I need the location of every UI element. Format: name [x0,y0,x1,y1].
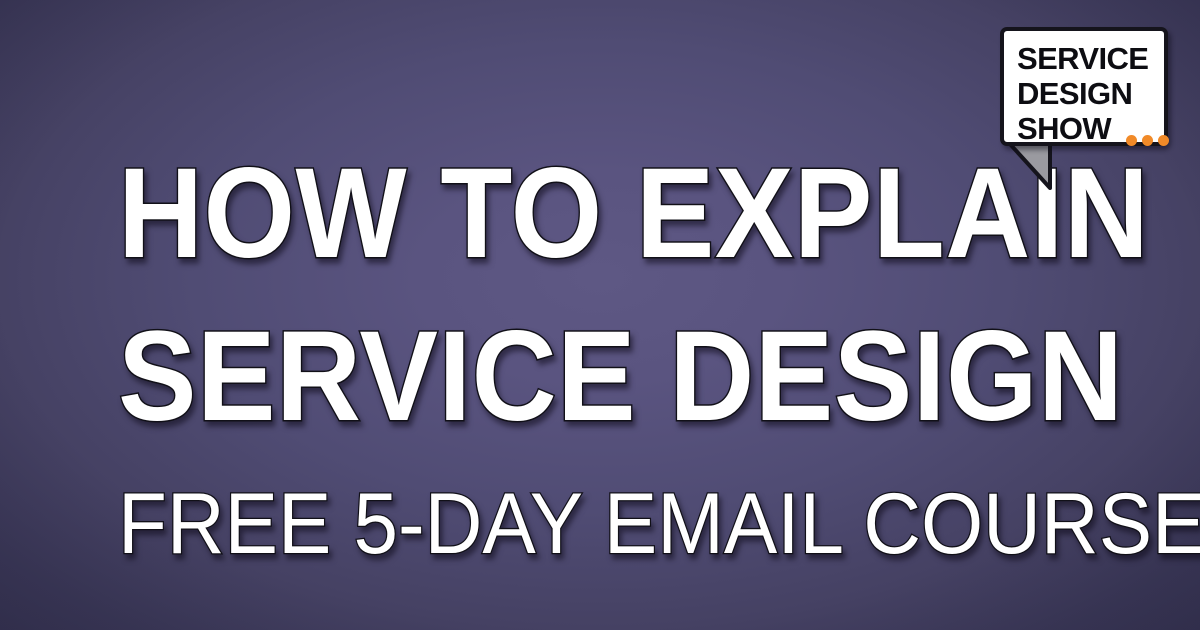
headline-line-2: SERVICE DESIGN [118,313,909,441]
headline-line-1: HOW TO EXPLAIN [118,150,909,278]
logo-dot-3-icon [1158,135,1169,146]
headline-block: HOW TO EXPLAIN SERVICE DESIGN FREE 5-DAY… [118,150,978,567]
service-design-show-logo[interactable]: SERVICE DESIGN SHOW [996,24,1172,184]
logo-dot-1-icon [1126,135,1137,146]
logo-dots-group [1126,135,1169,146]
promo-banner: HOW TO EXPLAIN SERVICE DESIGN FREE 5-DAY… [0,0,1200,630]
logo-dot-2-icon [1142,135,1153,146]
logo-line-design: DESIGN [1017,78,1132,109]
logo-line-show: SHOW [1017,113,1111,144]
logo-bubble: SERVICE DESIGN SHOW [1000,27,1168,146]
headline-subtitle: FREE 5-DAY EMAIL COURSE [118,481,918,567]
logo-line-service: SERVICE [1017,43,1148,74]
speech-bubble-tail-icon [1008,142,1052,190]
